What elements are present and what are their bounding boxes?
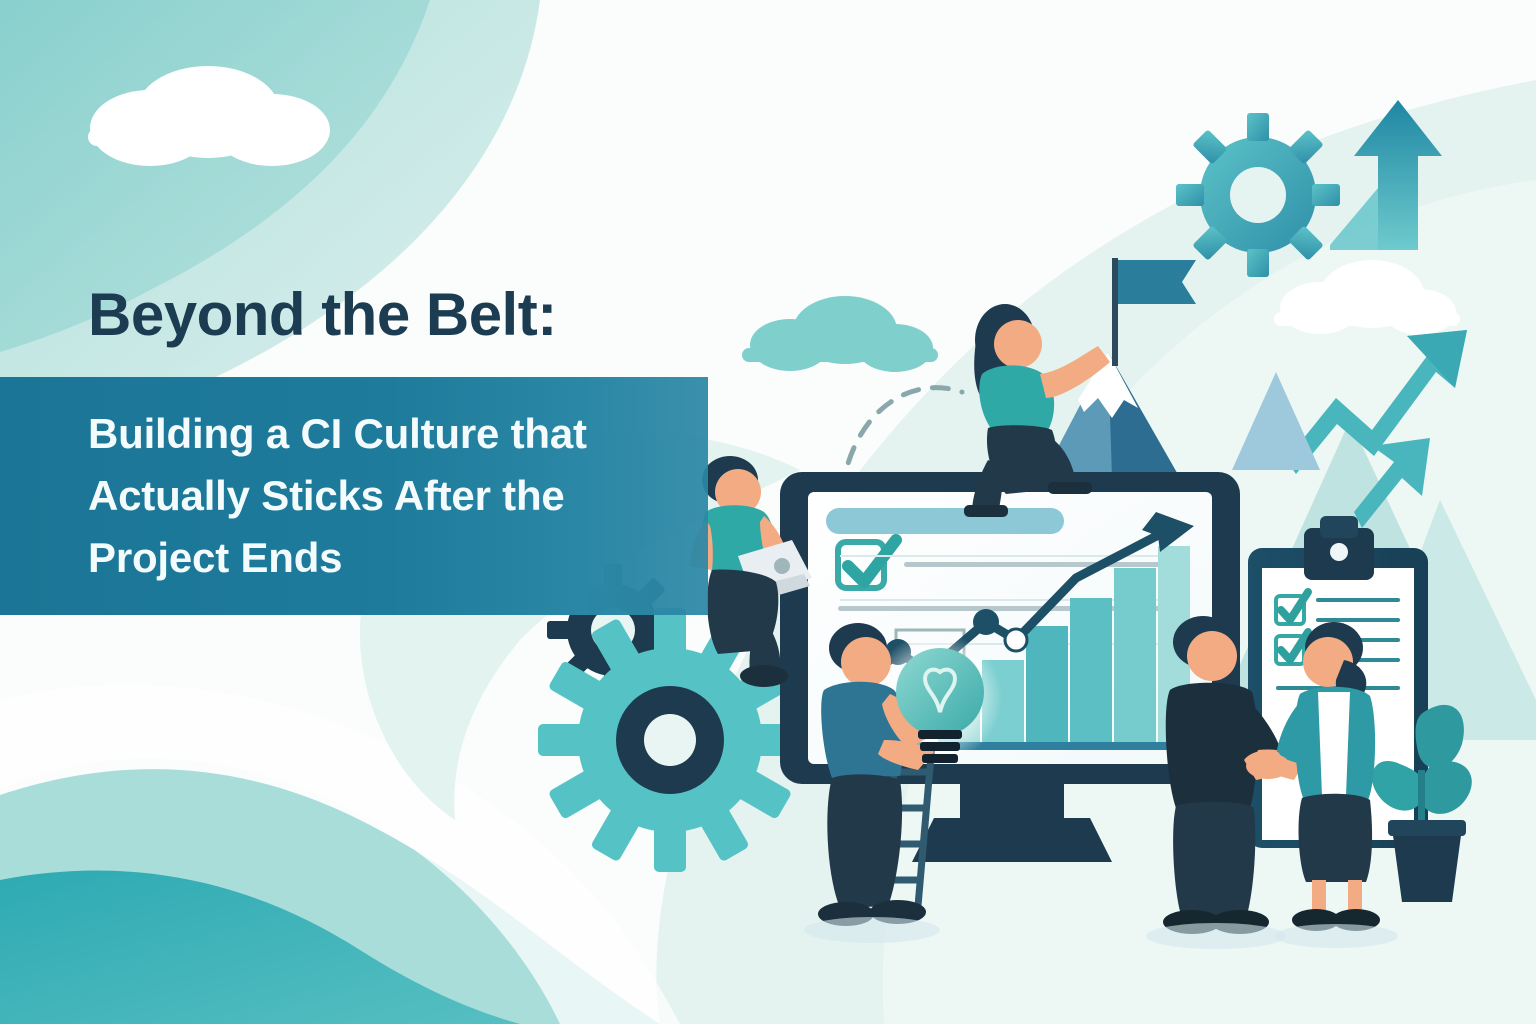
screen-text-line-1 — [904, 562, 1170, 567]
clipboard-line — [1316, 598, 1400, 602]
subtitle-band: Building a CI Culture that Actually Stic… — [0, 377, 708, 615]
flag-pole — [1112, 258, 1118, 366]
monitor-stand-neck — [960, 784, 1064, 818]
chart-bar — [1026, 626, 1068, 750]
page-title: Beyond the Belt: — [0, 276, 720, 368]
clipboard-line — [1316, 618, 1400, 622]
gear-top-right-icon — [1176, 113, 1340, 277]
handshake-icon — [1246, 753, 1290, 779]
plant-pot — [1392, 828, 1462, 902]
chart-bar — [1114, 568, 1156, 750]
monitor-stand-base — [912, 818, 1112, 862]
lightbulb-icon — [896, 648, 984, 736]
clipboard-clip-tab — [1320, 516, 1358, 538]
page-subtitle: Building a CI Culture that Actually Stic… — [88, 403, 628, 589]
chart-bar — [1070, 598, 1112, 750]
screen-header-pill — [826, 508, 1064, 534]
poster-canvas: Beyond the Belt: Building a CI Culture t… — [0, 0, 1536, 1024]
headline-block: Beyond the Belt: Building a CI Culture t… — [0, 276, 720, 615]
